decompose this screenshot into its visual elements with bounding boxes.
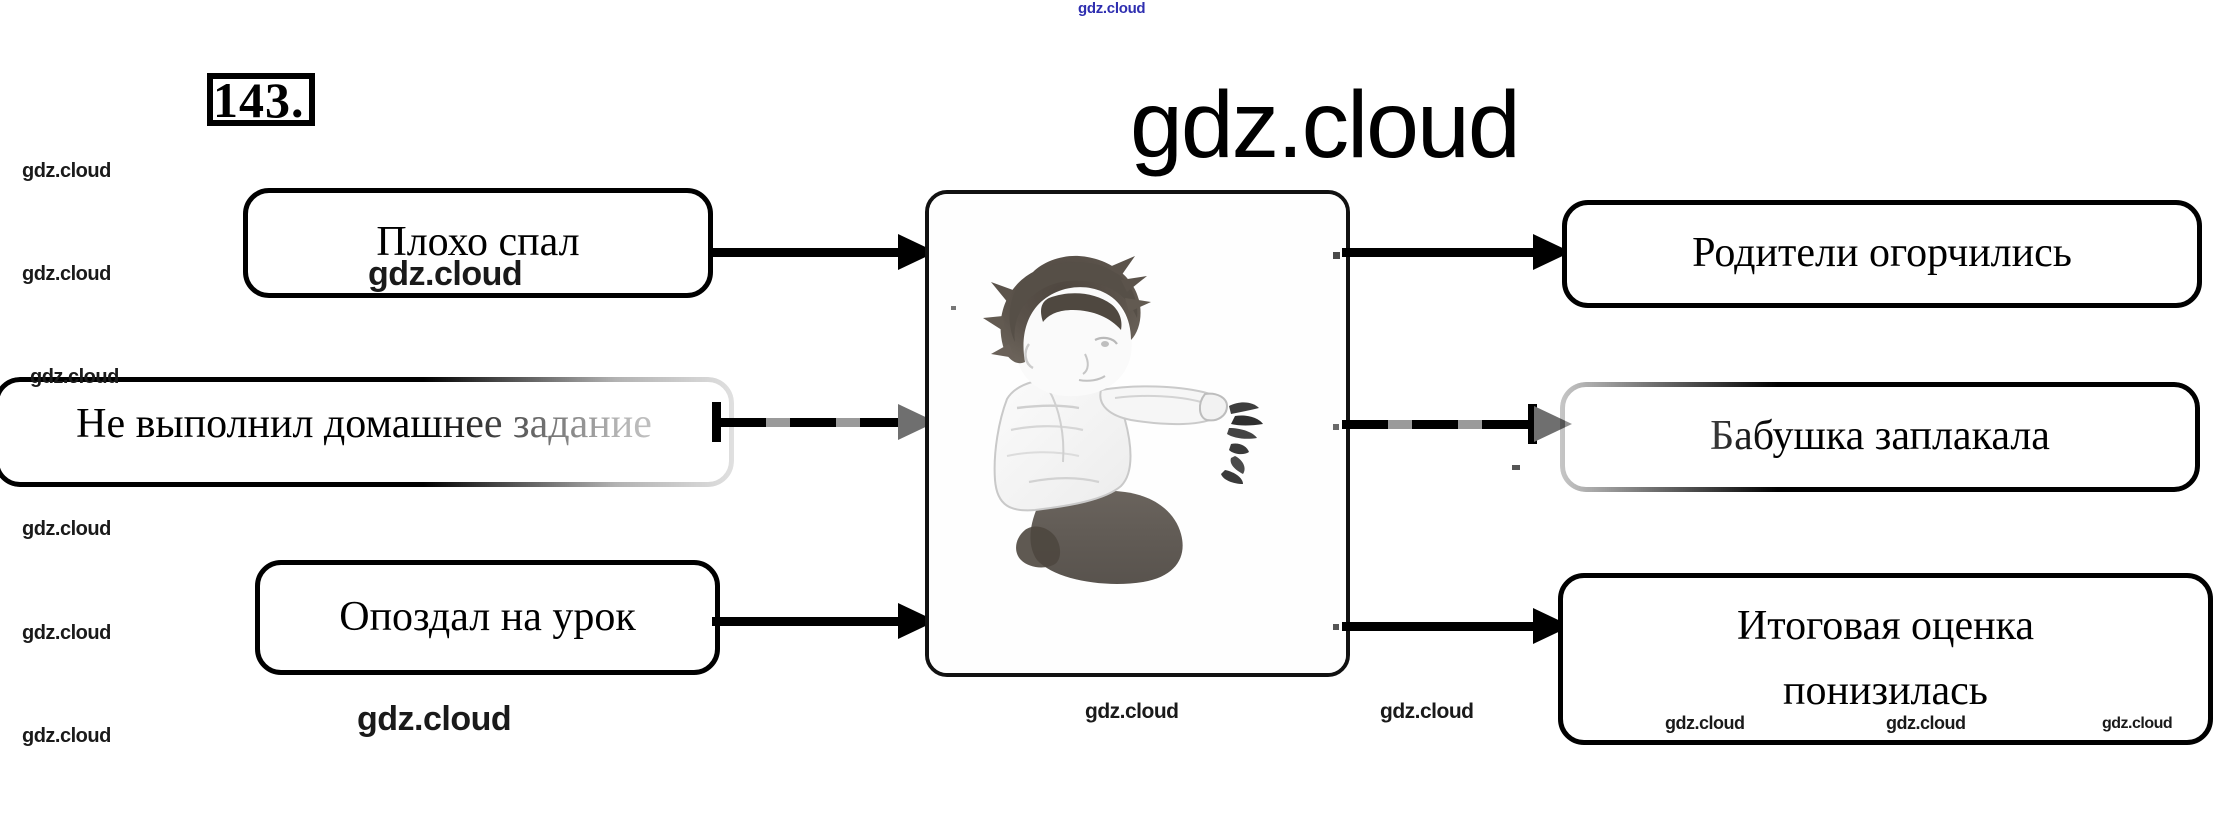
watermark-hero: gdz.cloud — [1130, 78, 1519, 173]
watermark-in-grade-2: gdz.cloud — [1886, 713, 1966, 734]
worksheet-page: gdz.cloud 143. gdz.cloud gdz.cloud gdz.c… — [0, 0, 2222, 823]
arrow-effect-3-shaft — [1342, 622, 1537, 631]
watermark-left-5: gdz.cloud — [22, 622, 111, 645]
watermark-below-center: gdz.cloud — [1085, 700, 1179, 724]
arrow-effect-1-shaft — [1342, 248, 1537, 257]
cause-box-late: Опоздал на урок — [255, 560, 720, 675]
cause-label-homework: Не выполнил домашнее задание — [62, 399, 666, 464]
center-picture-frame — [925, 190, 1350, 677]
watermark-left-2: gdz.cloud — [22, 263, 111, 286]
scan-speck — [1512, 465, 1520, 470]
watermark-top-blue: gdz.cloud — [1078, 0, 1145, 17]
watermark-in-badsleep: gdz.cloud — [368, 255, 522, 294]
exercise-number: 143. — [213, 71, 343, 129]
boy-kneeling-illustration — [929, 194, 1346, 673]
watermark-in-grade-1: gdz.cloud — [1665, 713, 1745, 734]
watermark-in-grade-3: gdz.cloud — [2102, 715, 2172, 733]
effect-box-parents-upset: Родители огорчились — [1562, 200, 2202, 308]
effect-label-grade-lowered: Итоговая оценка понизилась — [1723, 594, 2048, 724]
watermark-left-6: gdz.cloud — [22, 725, 111, 748]
cause-label-late: Опоздал на урок — [325, 592, 650, 643]
watermark-left-1: gdz.cloud — [22, 160, 111, 183]
watermark-right-of-center: gdz.cloud — [1380, 700, 1474, 724]
arrow-effect-2-shaft — [1342, 420, 1532, 429]
arrow-cause-1-shaft — [712, 248, 902, 257]
effect-label-parents-upset: Родители огорчились — [1678, 228, 2086, 279]
effect-label-grandma-cried: Бабушка заплакала — [1696, 411, 2064, 462]
watermark-left-4: gdz.cloud — [22, 518, 111, 541]
watermark-left-3: gdz.cloud — [30, 366, 119, 389]
effect-box-grandma-cried: Бабушка заплакала — [1560, 382, 2200, 492]
arrow-cause-3-shaft — [712, 617, 902, 626]
arrow-cause-2-shaft — [720, 418, 903, 427]
watermark-below-late: gdz.cloud — [357, 700, 511, 739]
cause-box-homework: Не выполнил домашнее задание — [0, 377, 734, 487]
